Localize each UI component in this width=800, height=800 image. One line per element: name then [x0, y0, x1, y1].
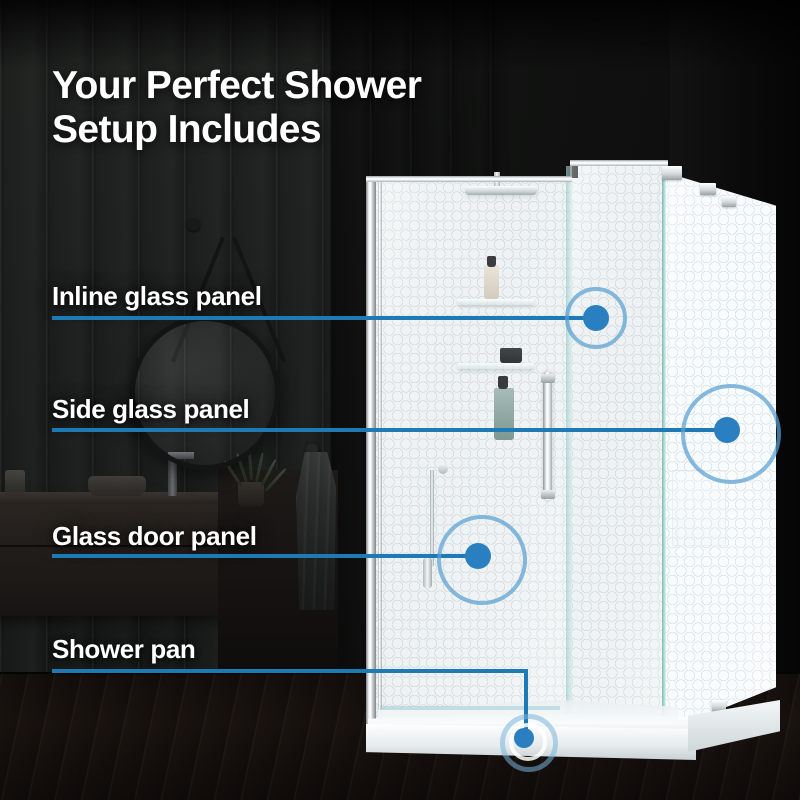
callout-dot-side-glass-panel	[714, 417, 740, 443]
page-title-line-2: Setup Includes	[52, 108, 421, 152]
callout-label-glass-door-panel: Glass door panel	[52, 521, 257, 552]
callout-label-inline-glass-panel: Inline glass panel	[52, 281, 262, 312]
callout-dot-inline-glass-panel	[583, 305, 609, 331]
callout-overlay: Your Perfect Shower Setup Includes Inlin…	[0, 0, 800, 800]
infographic-canvas: Your Perfect Shower Setup Includes Inlin…	[0, 0, 800, 800]
callout-label-shower-pan: Shower pan	[52, 634, 195, 665]
callout-dot-shower-pan	[514, 728, 534, 748]
callout-dot-glass-door-panel	[465, 543, 491, 569]
leader-line-side-glass-panel	[52, 428, 727, 432]
leader-line-glass-door-panel	[52, 554, 478, 558]
leader-line-inline-glass-panel	[52, 316, 596, 320]
page-title: Your Perfect Shower Setup Includes	[52, 64, 421, 151]
callout-label-side-glass-panel: Side glass panel	[52, 394, 249, 425]
page-title-line-1: Your Perfect Shower	[52, 64, 421, 108]
leader-line-shower-pan-horizontal	[52, 669, 528, 673]
